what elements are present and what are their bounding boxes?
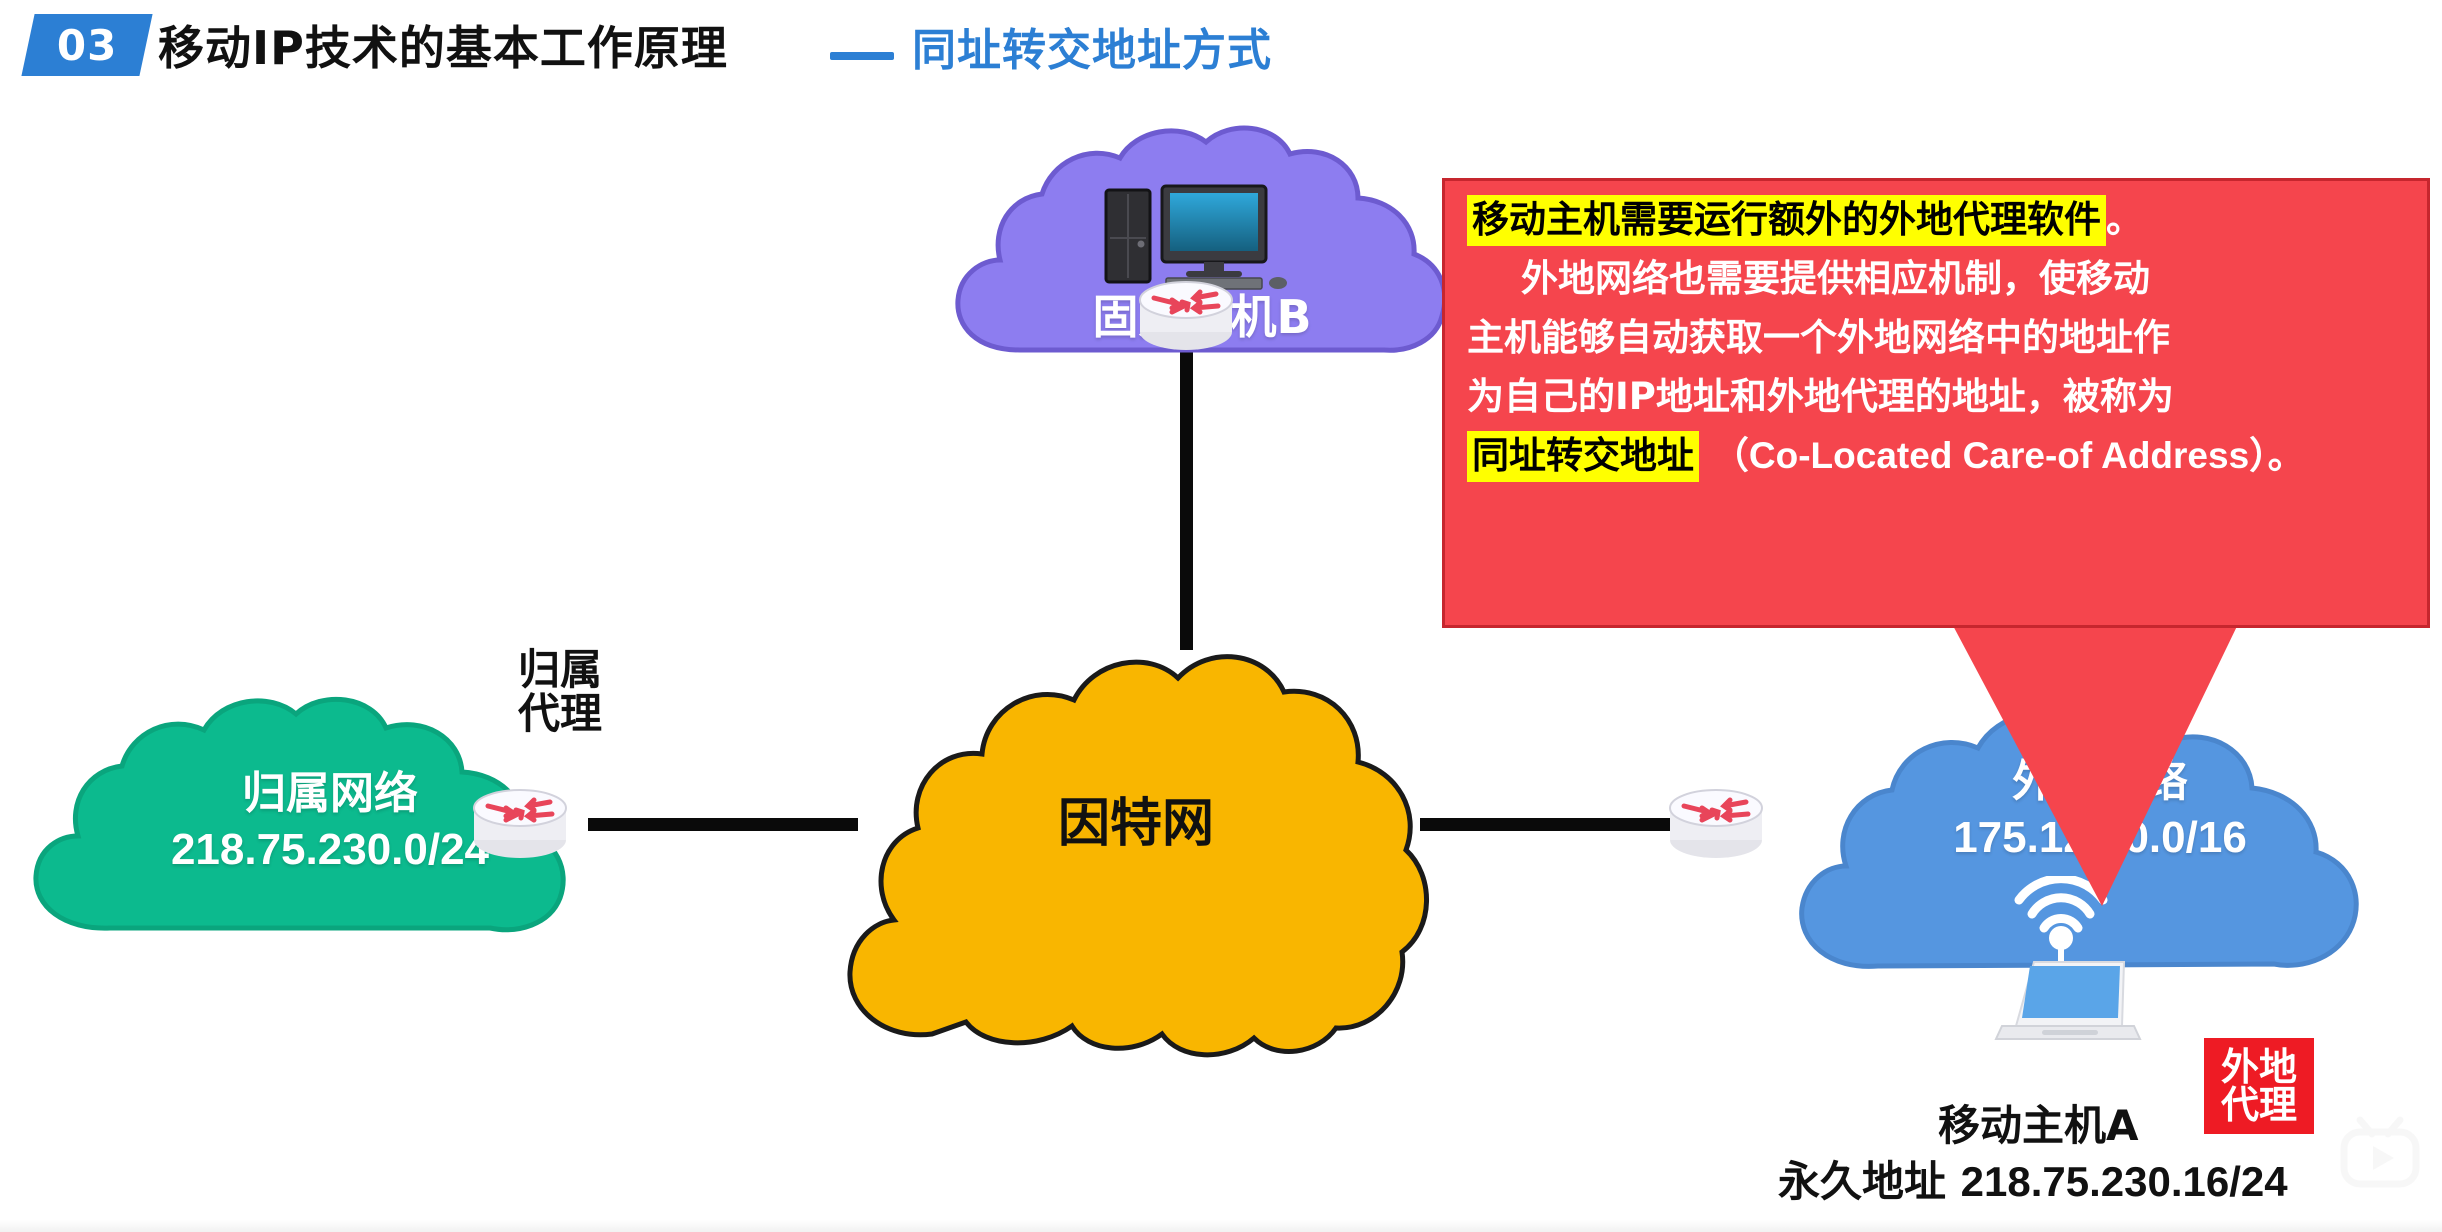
callout-line-1-tail: 。 — [2106, 198, 2143, 241]
foreign-agent-badge-line1: 外地 — [2221, 1048, 2297, 1086]
home-agent-label-line2: 代理 — [518, 692, 602, 736]
callout-line-5-tail: 。 — [2268, 434, 2305, 477]
link-fixed-to-internet — [1180, 330, 1193, 650]
callout-line-5: 同址转交地址 （Co-Located Care-of Address）。 — [1467, 437, 2405, 474]
callout-line-1: 移动主机需要运行额外的外地代理软件。 — [1467, 201, 2405, 238]
callout-box: 移动主机需要运行额外的外地代理软件。 外地网络也需要提供相应机制，使移动 主机能… — [1442, 178, 2430, 628]
section-number-badge: 03 — [21, 14, 152, 76]
permanent-address-value: 218.75.230.16/24 — [1961, 1158, 2288, 1205]
permanent-address-title: 永久地址 — [1778, 1157, 1946, 1206]
foreign-agent-badge-line2: 代理 — [2221, 1086, 2297, 1124]
laptop-icon — [1972, 876, 2150, 1046]
page-title: 移动IP技术的基本工作原理 — [158, 12, 728, 78]
foreign-agent-badge: 外地 代理 — [2204, 1038, 2314, 1134]
mobile-host-label: 移动主机A — [1938, 1092, 2139, 1153]
title-divider-dash — [830, 52, 894, 60]
callout-line-5-english: （Co-Located Care-of Address） — [1712, 435, 2268, 476]
cloud-shape-orange — [836, 630, 1436, 1060]
home-agent-label-line1: 归属 — [518, 648, 602, 692]
callout-line-2: 外地网络也需要提供相应机制，使移动 — [1467, 260, 2405, 297]
callout-line-5-highlight: 同址转交地址 — [1467, 431, 1699, 482]
bilibili-tv-icon — [2336, 1114, 2424, 1192]
home-agent-label: 归属 代理 — [518, 648, 602, 736]
slide-bottom-edge — [0, 1220, 2442, 1232]
slide-canvas: 03 移动IP技术的基本工作原理 同址转交地址方式 固定主机B — [0, 0, 2442, 1232]
router-icon-home-agent — [466, 780, 574, 866]
router-icon-fixed — [1132, 272, 1240, 358]
callout-line-3: 主机能够自动获取一个外地网络中的地址作 — [1467, 319, 2405, 356]
permanent-address-label: 永久地址 218.75.230.16/24 — [1778, 1148, 2288, 1209]
slide-header: 03 移动IP技术的基本工作原理 同址转交地址方式 — [0, 0, 2442, 92]
section-number-text: 03 — [57, 21, 117, 70]
cloud-internet: 因特网 — [836, 630, 1436, 1060]
callout-line-1-highlight: 移动主机需要运行额外的外地代理软件 — [1467, 195, 2106, 246]
router-icon-foreign — [1662, 780, 1770, 866]
wifi-signal-icon — [2019, 879, 2103, 928]
callout-line-4: 为自己的IP地址和外地代理的地址，被称为 — [1467, 378, 2405, 415]
page-subtitle: 同址转交地址方式 — [912, 14, 1272, 78]
